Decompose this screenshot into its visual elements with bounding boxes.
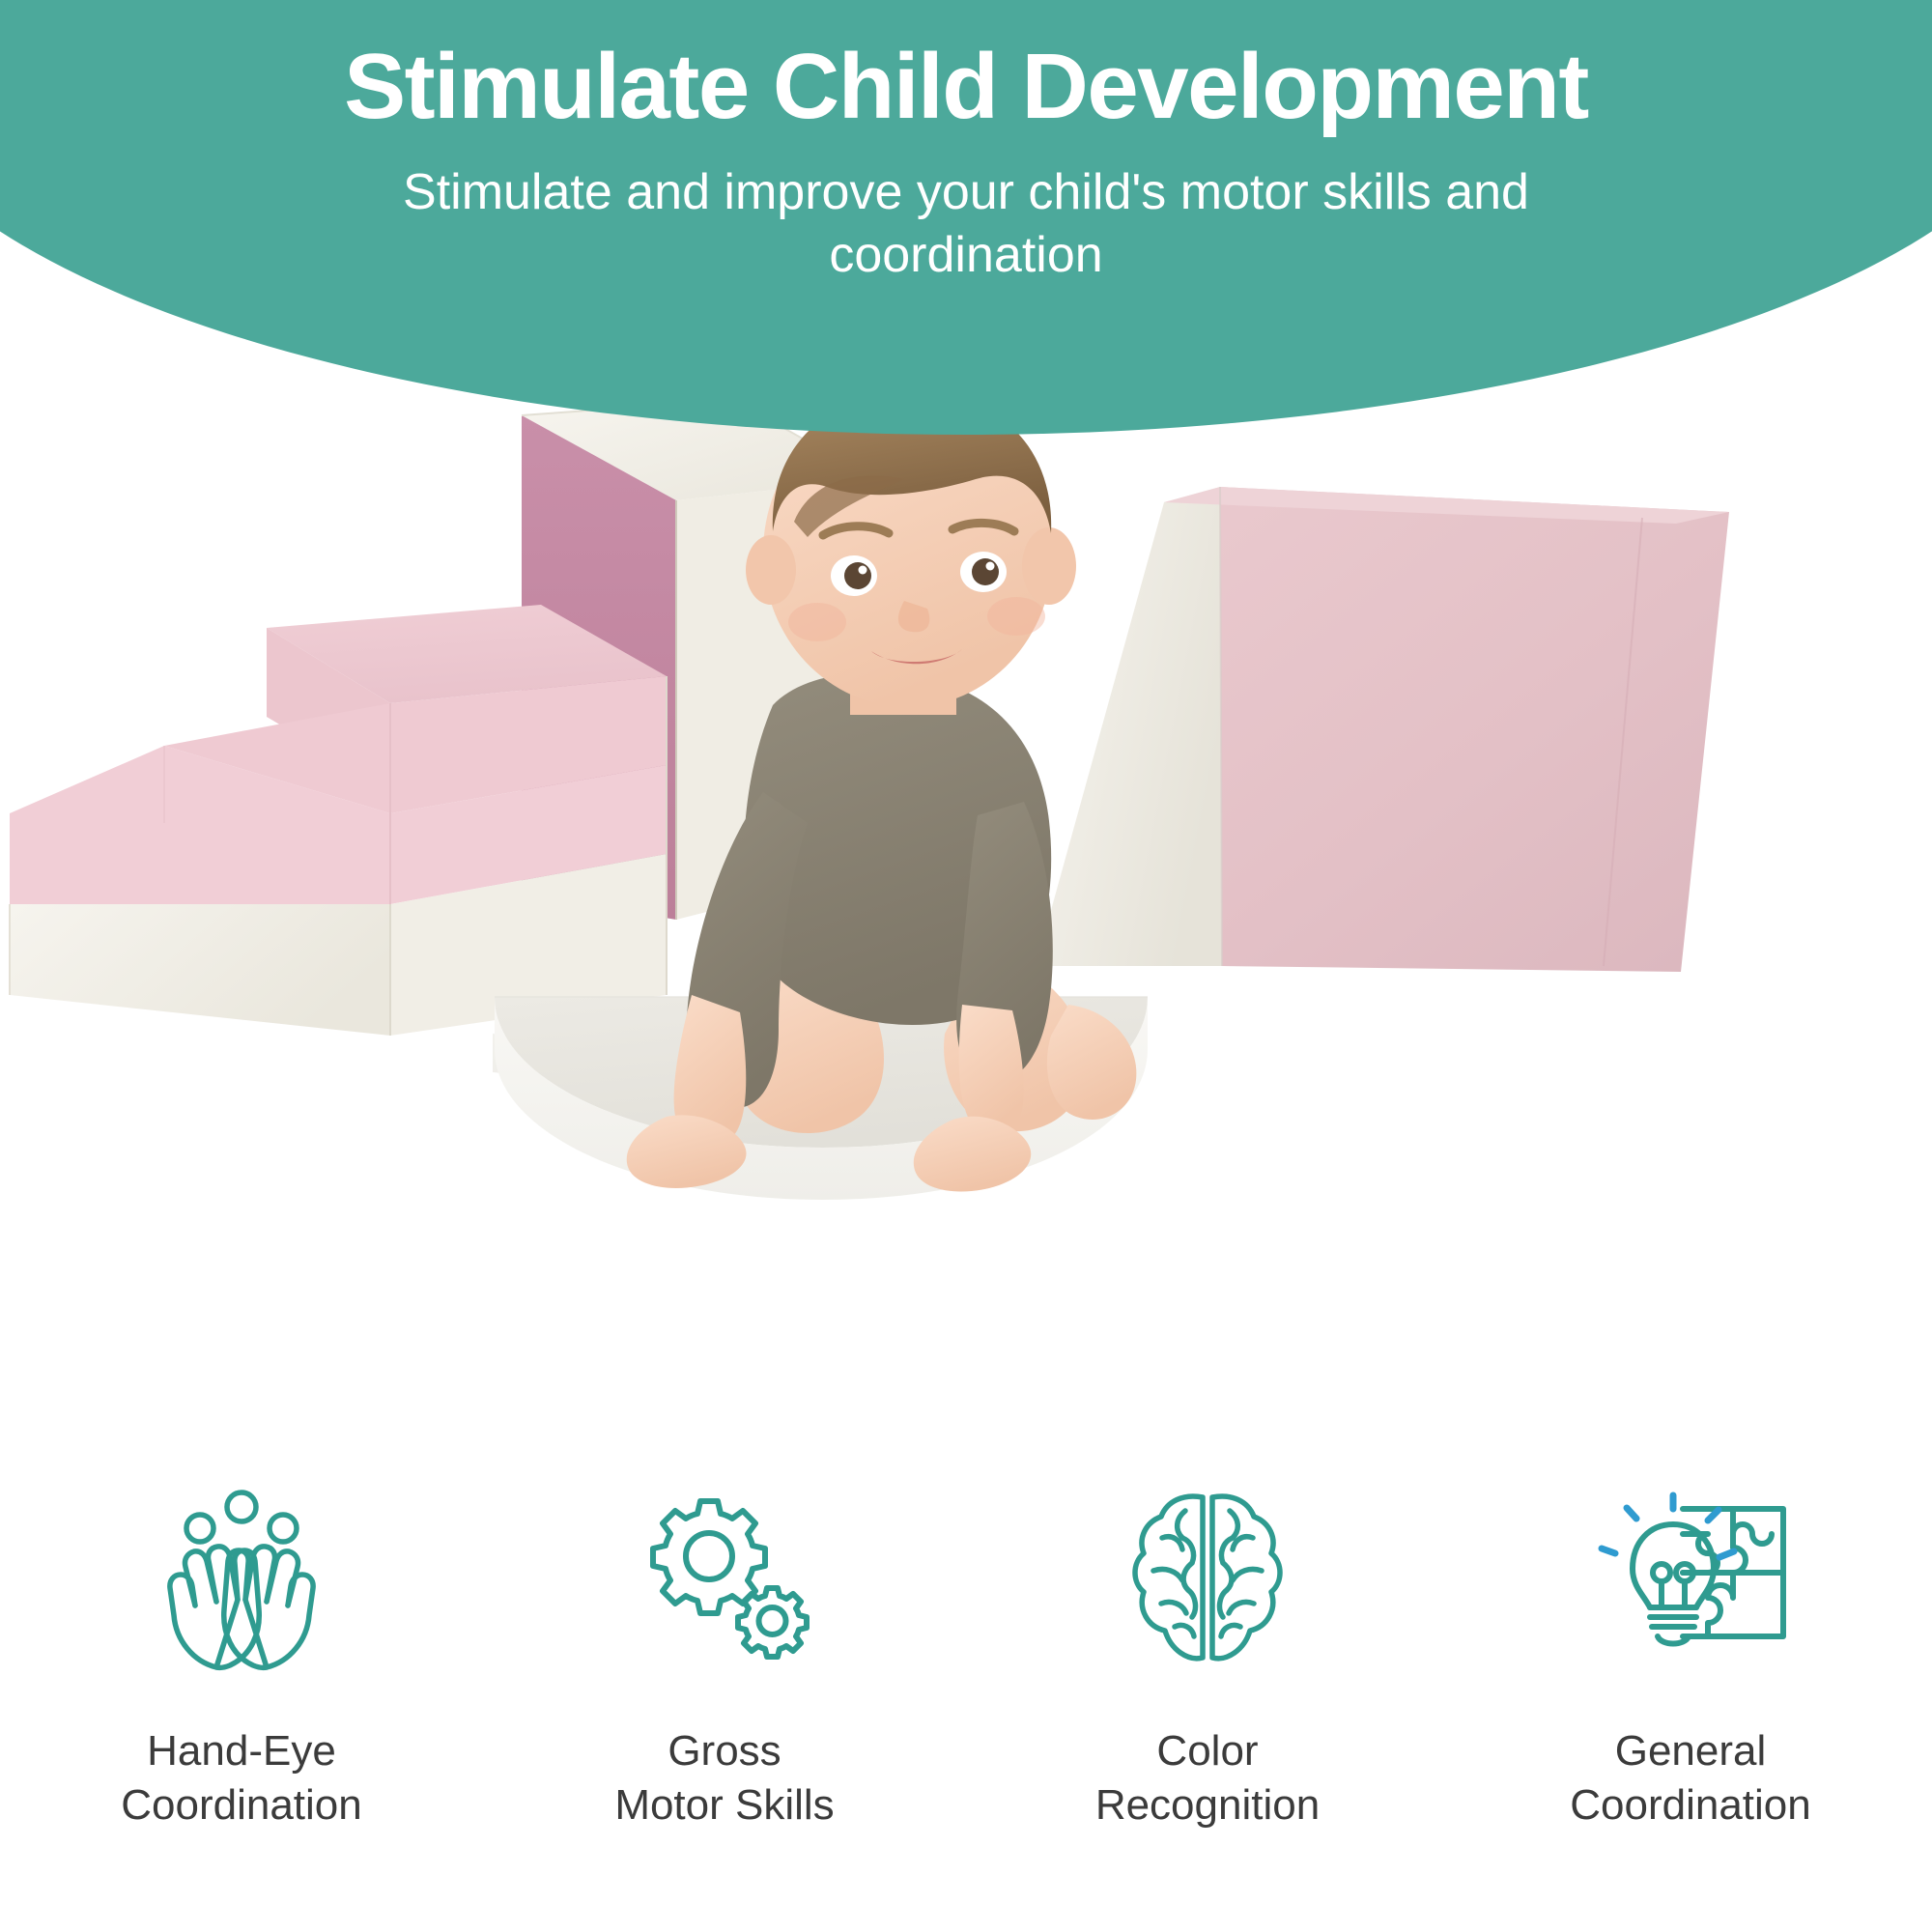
feature-general-coordination: General Coordination: [1449, 1492, 1932, 1932]
feature-label: General Coordination: [1570, 1724, 1811, 1833]
page-title: Stimulate Child Development: [0, 0, 1932, 136]
foam-wedge-ramp: [1036, 487, 1729, 972]
foam-play-set-illustration: [0, 386, 1932, 1478]
feature-label: Hand-Eye Coordination: [121, 1724, 362, 1833]
feature-hand-eye-coordination: Hand-Eye Coordination: [0, 1492, 483, 1932]
header-content: Stimulate Child Development Stimulate an…: [0, 0, 1932, 287]
feature-color-recognition: Color Recognition: [966, 1492, 1449, 1932]
brain-icon: [1111, 1492, 1304, 1671]
feature-label: Gross Motor Skills: [614, 1724, 834, 1833]
foam-steps: [10, 605, 667, 1036]
features-row: Hand-Eye Coordination Gross Motor Skills: [0, 1492, 1932, 1932]
lightbulb-puzzle-icon: [1594, 1492, 1787, 1671]
gears-icon: [628, 1492, 821, 1671]
feature-label: Color Recognition: [1095, 1724, 1320, 1833]
feature-gross-motor-skills: Gross Motor Skills: [483, 1492, 966, 1932]
product-photo: [0, 386, 1932, 1478]
header-banner: Stimulate Child Development Stimulate an…: [0, 0, 1932, 435]
hands-with-balls-icon: [145, 1492, 338, 1671]
page-subtitle: Stimulate and improve your child's motor…: [0, 136, 1932, 287]
